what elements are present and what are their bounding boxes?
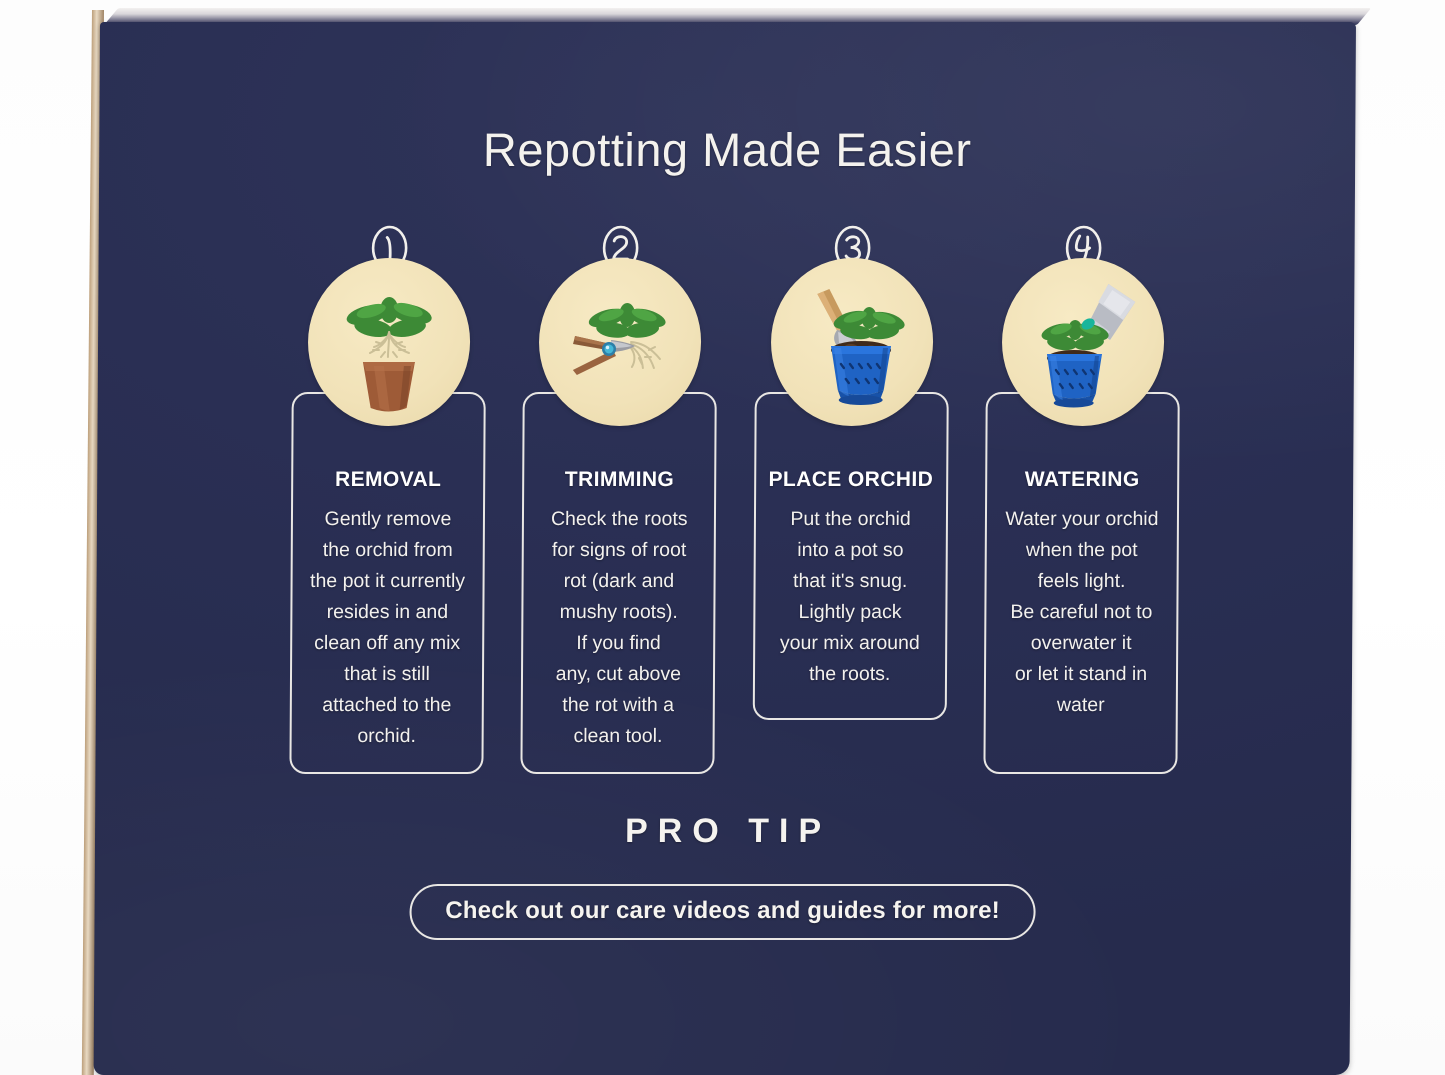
step-2-heading: TRIMMING bbox=[516, 468, 722, 492]
product-photo-background: Repotting Made Easier bbox=[0, 0, 1445, 1075]
step-4-illustration bbox=[1002, 258, 1165, 426]
panel-content: Repotting Made Easier bbox=[94, 22, 1356, 1075]
page-title: Repotting Made Easier bbox=[99, 122, 1355, 177]
step-2: TRIMMING Check the roots for signs of ro… bbox=[515, 222, 724, 782]
step-4: WATERING Water your orchid when the pot … bbox=[977, 222, 1186, 782]
pro-tip-label: PRO TIP bbox=[95, 812, 1351, 851]
step-4-text: Water your orchid when the pot feels lig… bbox=[978, 504, 1185, 721]
step-2-text: Check the roots for signs of root rot (d… bbox=[515, 504, 723, 752]
repotting-steps-row: REMOVAL Gently remove the orchid from th… bbox=[283, 222, 1186, 782]
step-3-illustration bbox=[770, 258, 933, 426]
step-2-card-body: TRIMMING Check the roots for signs of ro… bbox=[515, 468, 723, 752]
orchid-bare-root-and-terracotta-pot-icon bbox=[308, 258, 471, 426]
pro-tip-pill-wrapper: Check out our care videos and guides for… bbox=[94, 884, 1350, 940]
watering-can-over-blue-pot-icon bbox=[1002, 258, 1165, 426]
step-1-card-body: REMOVAL Gently remove the orchid from th… bbox=[284, 468, 492, 752]
step-3-heading: PLACE ORCHID bbox=[748, 468, 954, 492]
step-1: REMOVAL Gently remove the orchid from th… bbox=[283, 222, 492, 782]
pruning-shears-trimming-roots-icon bbox=[539, 258, 702, 426]
step-1-text: Gently remove the orchid from the pot it… bbox=[284, 504, 492, 752]
step-3-text: Put the orchid into a pot so that it's s… bbox=[747, 504, 954, 690]
step-2-illustration bbox=[539, 258, 702, 426]
step-3: PLACE ORCHID Put the orchid into a pot s… bbox=[746, 222, 955, 782]
box-front-panel: Repotting Made Easier bbox=[94, 22, 1356, 1075]
step-4-heading: WATERING bbox=[979, 468, 1185, 492]
step-1-illustration bbox=[308, 258, 471, 426]
care-videos-callout: Check out our care videos and guides for… bbox=[409, 884, 1036, 940]
step-3-card-body: PLACE ORCHID Put the orchid into a pot s… bbox=[747, 468, 954, 690]
orchid-in-blue-pot-with-trowel-icon bbox=[770, 258, 933, 426]
step-1-heading: REMOVAL bbox=[285, 468, 491, 492]
step-4-card-body: WATERING Water your orchid when the pot … bbox=[978, 468, 1186, 721]
